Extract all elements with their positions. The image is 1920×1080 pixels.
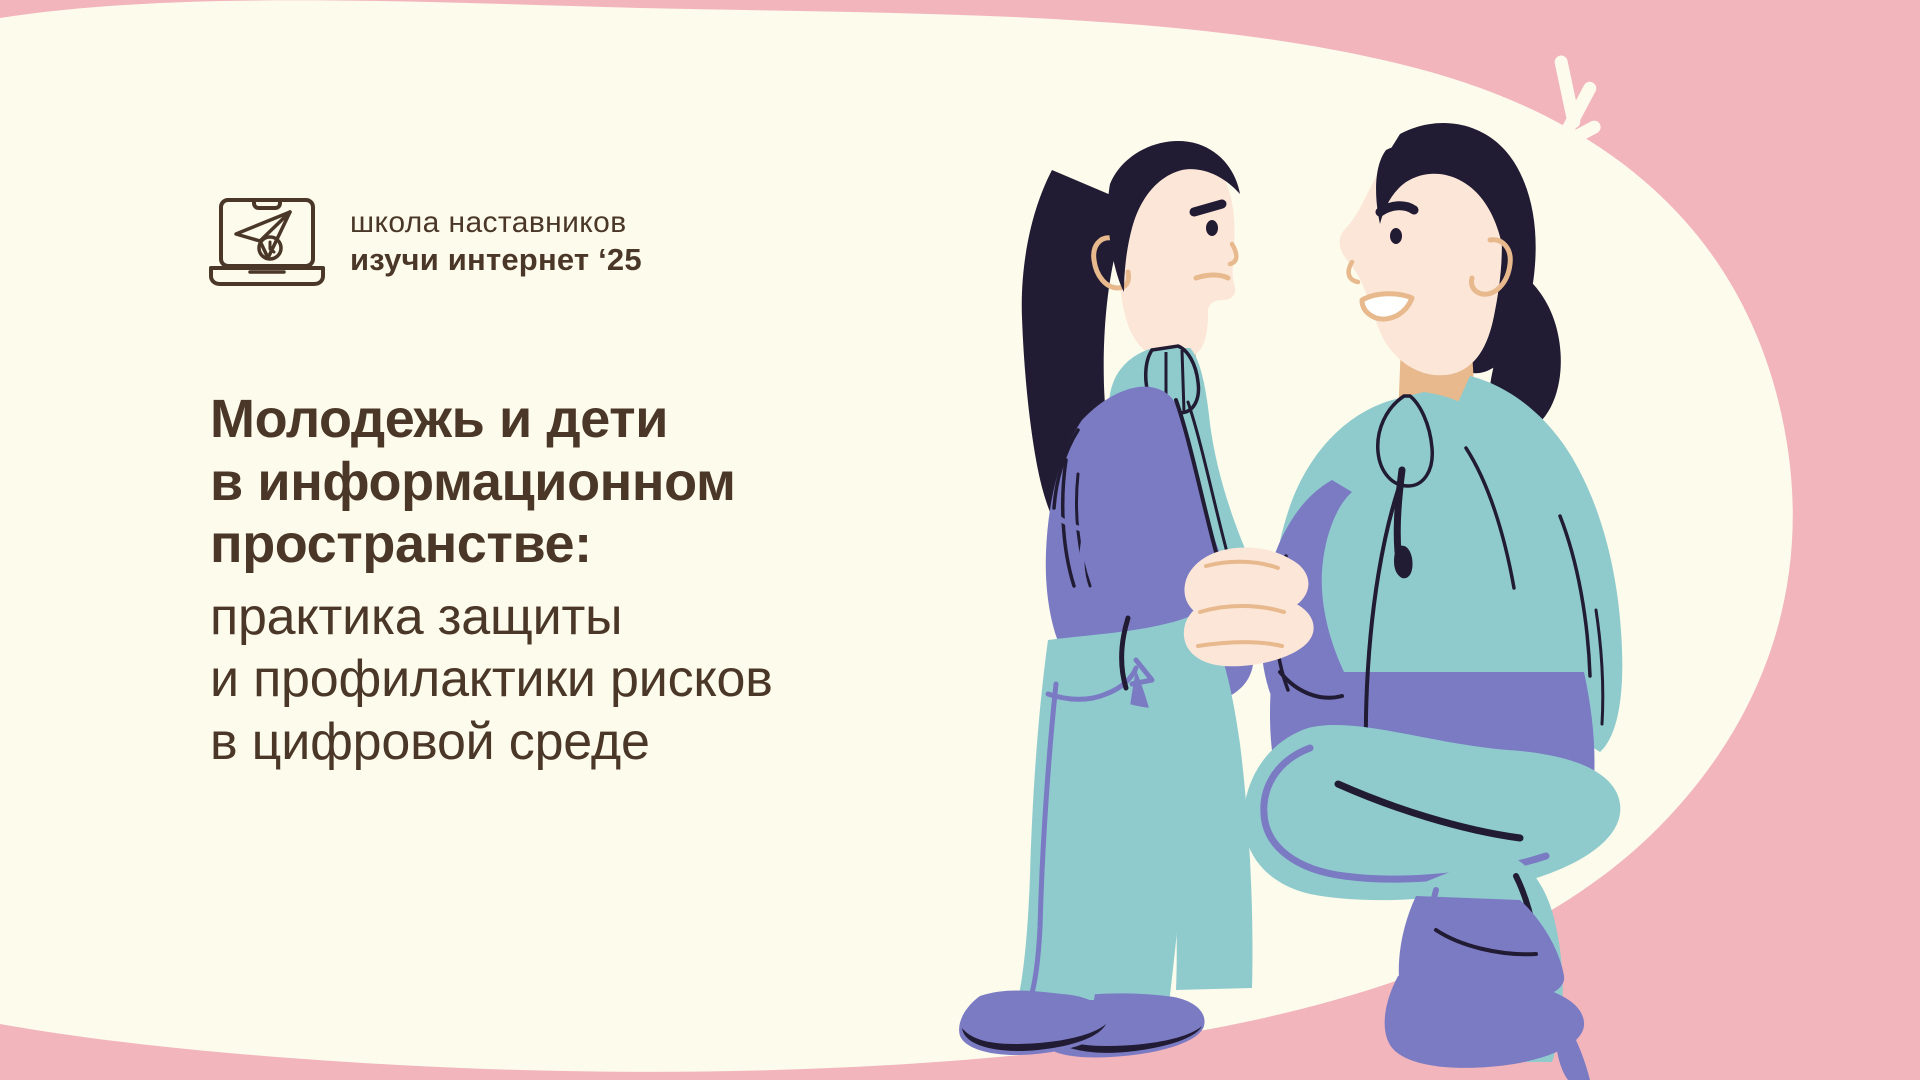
headline-block: Молодежь и дети в информационном простра…	[210, 388, 1110, 773]
title-line-2: в информационном	[210, 451, 1110, 514]
title-line-1: Молодежь и дети	[210, 388, 1110, 451]
logo-lockup[interactable]: школа наставников изучи интернет ‘25	[208, 196, 642, 288]
logo-line-2: изучи интернет ‘25	[350, 241, 642, 279]
subtitle-line-2: и профилактики рисков	[210, 648, 1110, 710]
subtitle-line-3: в цифровой среде	[210, 711, 1110, 773]
title-line-3: пространстве:	[210, 513, 1110, 576]
subtitle-line-1: практика защиты	[210, 586, 1110, 648]
child-eye	[1206, 220, 1218, 236]
page-title: Молодежь и дети в информационном простра…	[210, 388, 1110, 576]
adult-boot-heel	[1556, 1036, 1590, 1080]
laptop-paper-plane-icon	[208, 196, 326, 288]
adult-eye	[1390, 228, 1402, 244]
logo-text: школа наставников изучи интернет ‘25	[350, 205, 642, 279]
page-subtitle: практика защиты и профилактики рисков в …	[210, 586, 1110, 773]
poster-canvas: школа наставников изучи интернет ‘25 Мол…	[0, 0, 1920, 1080]
logo-line-1: школа наставников	[350, 205, 642, 242]
